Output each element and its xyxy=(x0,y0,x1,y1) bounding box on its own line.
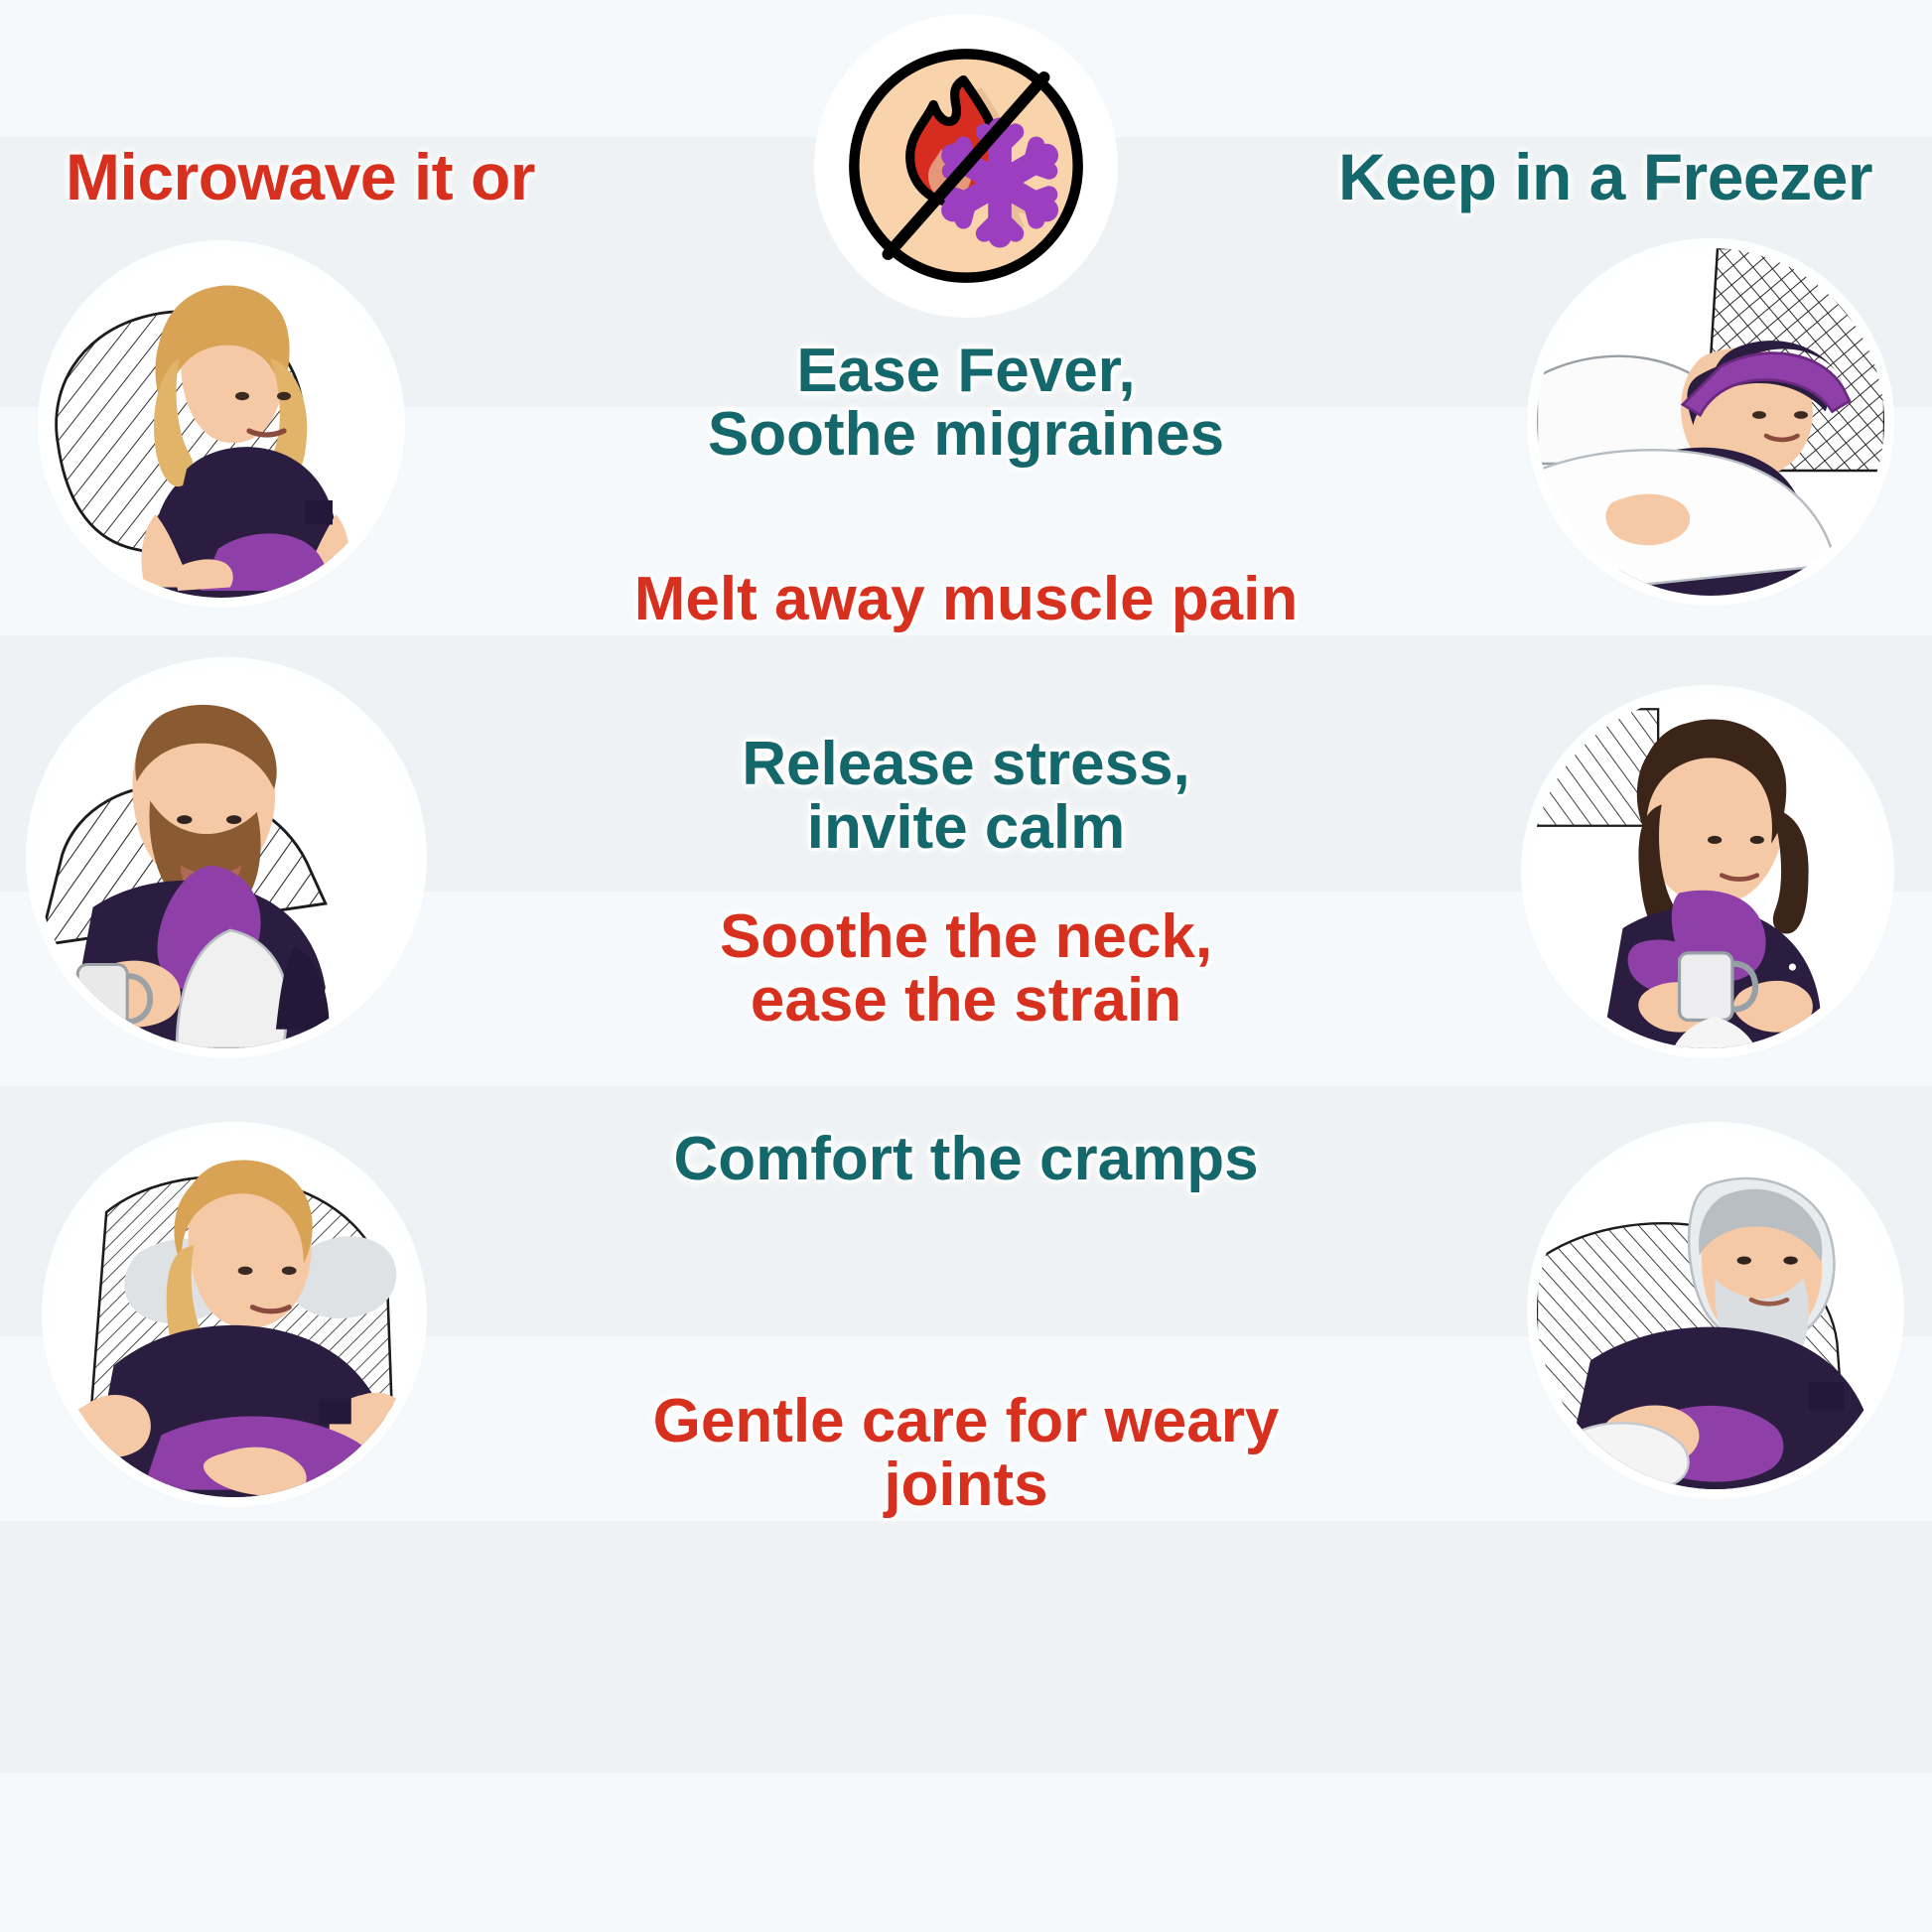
heading-microwave: Microwave it or xyxy=(66,139,535,214)
infographic-stage: Microwave it or Keep in a Freezer xyxy=(0,0,1932,1932)
benefit-line-3: Soothe the neck, ease the strain xyxy=(509,905,1423,1034)
woman-neck-wrap-mug-photo xyxy=(1531,695,1884,1048)
benefit-line-2: Release stress, invite calm xyxy=(509,733,1423,861)
bearded-man-neck-wrap-photo xyxy=(36,667,417,1048)
woman-knee-heat-pack-photo xyxy=(48,250,395,598)
benefit-line-1: Melt away muscle pain xyxy=(509,568,1423,631)
older-man-knee-pack-photo xyxy=(1537,1132,1894,1489)
benefit-line-0: Ease Fever, Soothe migraines xyxy=(509,340,1423,468)
woman-abdomen-pack-photo xyxy=(52,1132,417,1497)
hot-and-cold-pack-icon xyxy=(822,22,1110,310)
badge-svg xyxy=(836,36,1096,296)
benefit-line-4: Comfort the cramps xyxy=(509,1128,1423,1191)
woman-forehead-cold-pack-photo xyxy=(1537,248,1884,596)
heading-freezer: Keep in a Freezer xyxy=(1338,139,1872,214)
benefit-line-5: Gentle care for weary joints xyxy=(509,1390,1423,1518)
